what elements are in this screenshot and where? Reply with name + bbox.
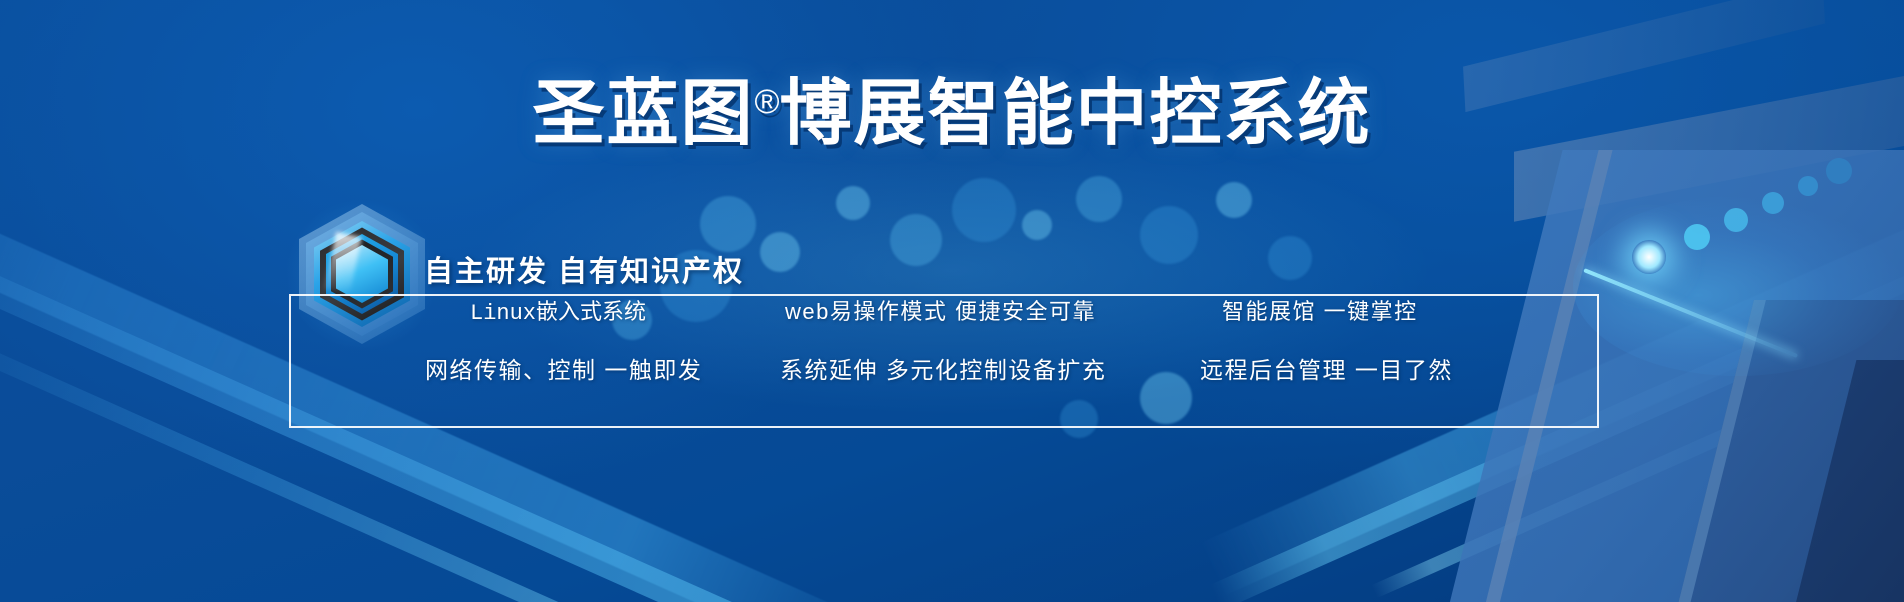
feature-item: 系统延伸 多元化控制设备扩充 xyxy=(780,351,1106,385)
feature-item: 远程后台管理 一目了然 xyxy=(1200,351,1453,385)
feature-item: 智能展馆 一键掌控 xyxy=(1222,294,1418,326)
feature-item: 网络传输、控制 一触即发 xyxy=(425,351,702,385)
feature-item: web易操作模式 便捷安全可靠 xyxy=(785,294,1096,326)
title-brand: 圣蓝图 xyxy=(532,74,754,154)
banner-title: 圣蓝图®博展智能中控系统 xyxy=(0,78,1904,150)
product-banner: 圣蓝图®博展智能中控系统 自主研发 自有知识产权 Linux嵌入式系统 web易… xyxy=(0,0,1904,602)
feature-item: Linux嵌入式系统 xyxy=(470,294,646,326)
registered-mark-icon: ® xyxy=(754,83,779,121)
banner-content: 圣蓝图®博展智能中控系统 自主研发 自有知识产权 Linux嵌入式系统 web易… xyxy=(0,0,1904,602)
banner-subtitle: 自主研发 自有知识产权 xyxy=(424,248,744,290)
title-product: 博展智能中控系统 xyxy=(780,74,1372,154)
